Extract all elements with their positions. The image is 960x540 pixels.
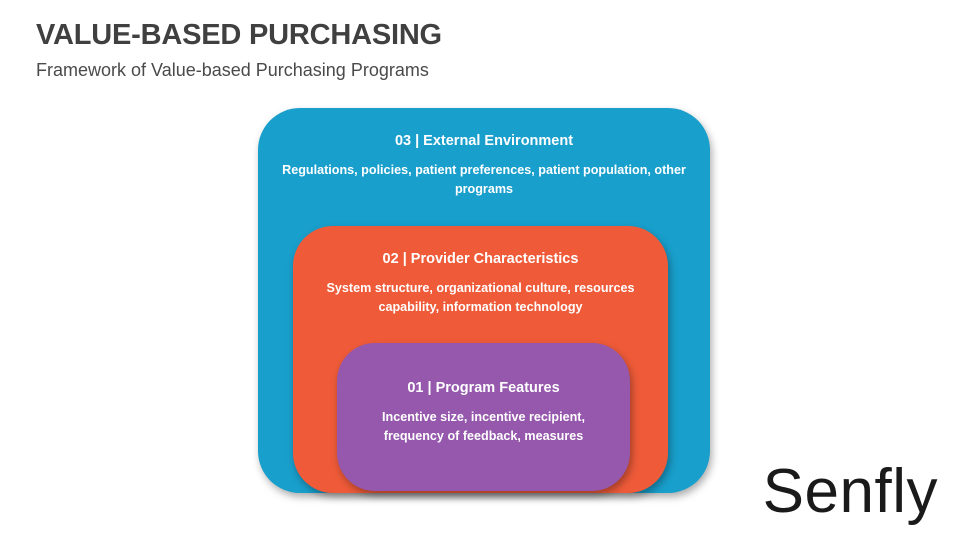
layer-heading-02: 02 | Provider Characteristics — [293, 250, 668, 268]
layer-text-block: 02 | Provider Characteristics System str… — [293, 250, 668, 317]
layer-text-block: 01 | Program Features Incentive size, in… — [337, 379, 630, 446]
layer-body-02: System structure, organizational culture… — [293, 279, 668, 317]
layer-body-03: Regulations, policies, patient preferenc… — [258, 161, 710, 199]
brand-logo-text: Senfly — [763, 458, 938, 526]
layer-text-block: 03 | External Environment Regulations, p… — [258, 132, 710, 199]
layer-heading-01: 01 | Program Features — [337, 379, 630, 397]
diagram-layer-program-features[interactable]: 01 | Program Features Incentive size, in… — [337, 343, 630, 491]
layer-heading-03: 03 | External Environment — [258, 132, 710, 150]
layer-body-01: Incentive size, incentive recipient, fre… — [337, 408, 630, 446]
